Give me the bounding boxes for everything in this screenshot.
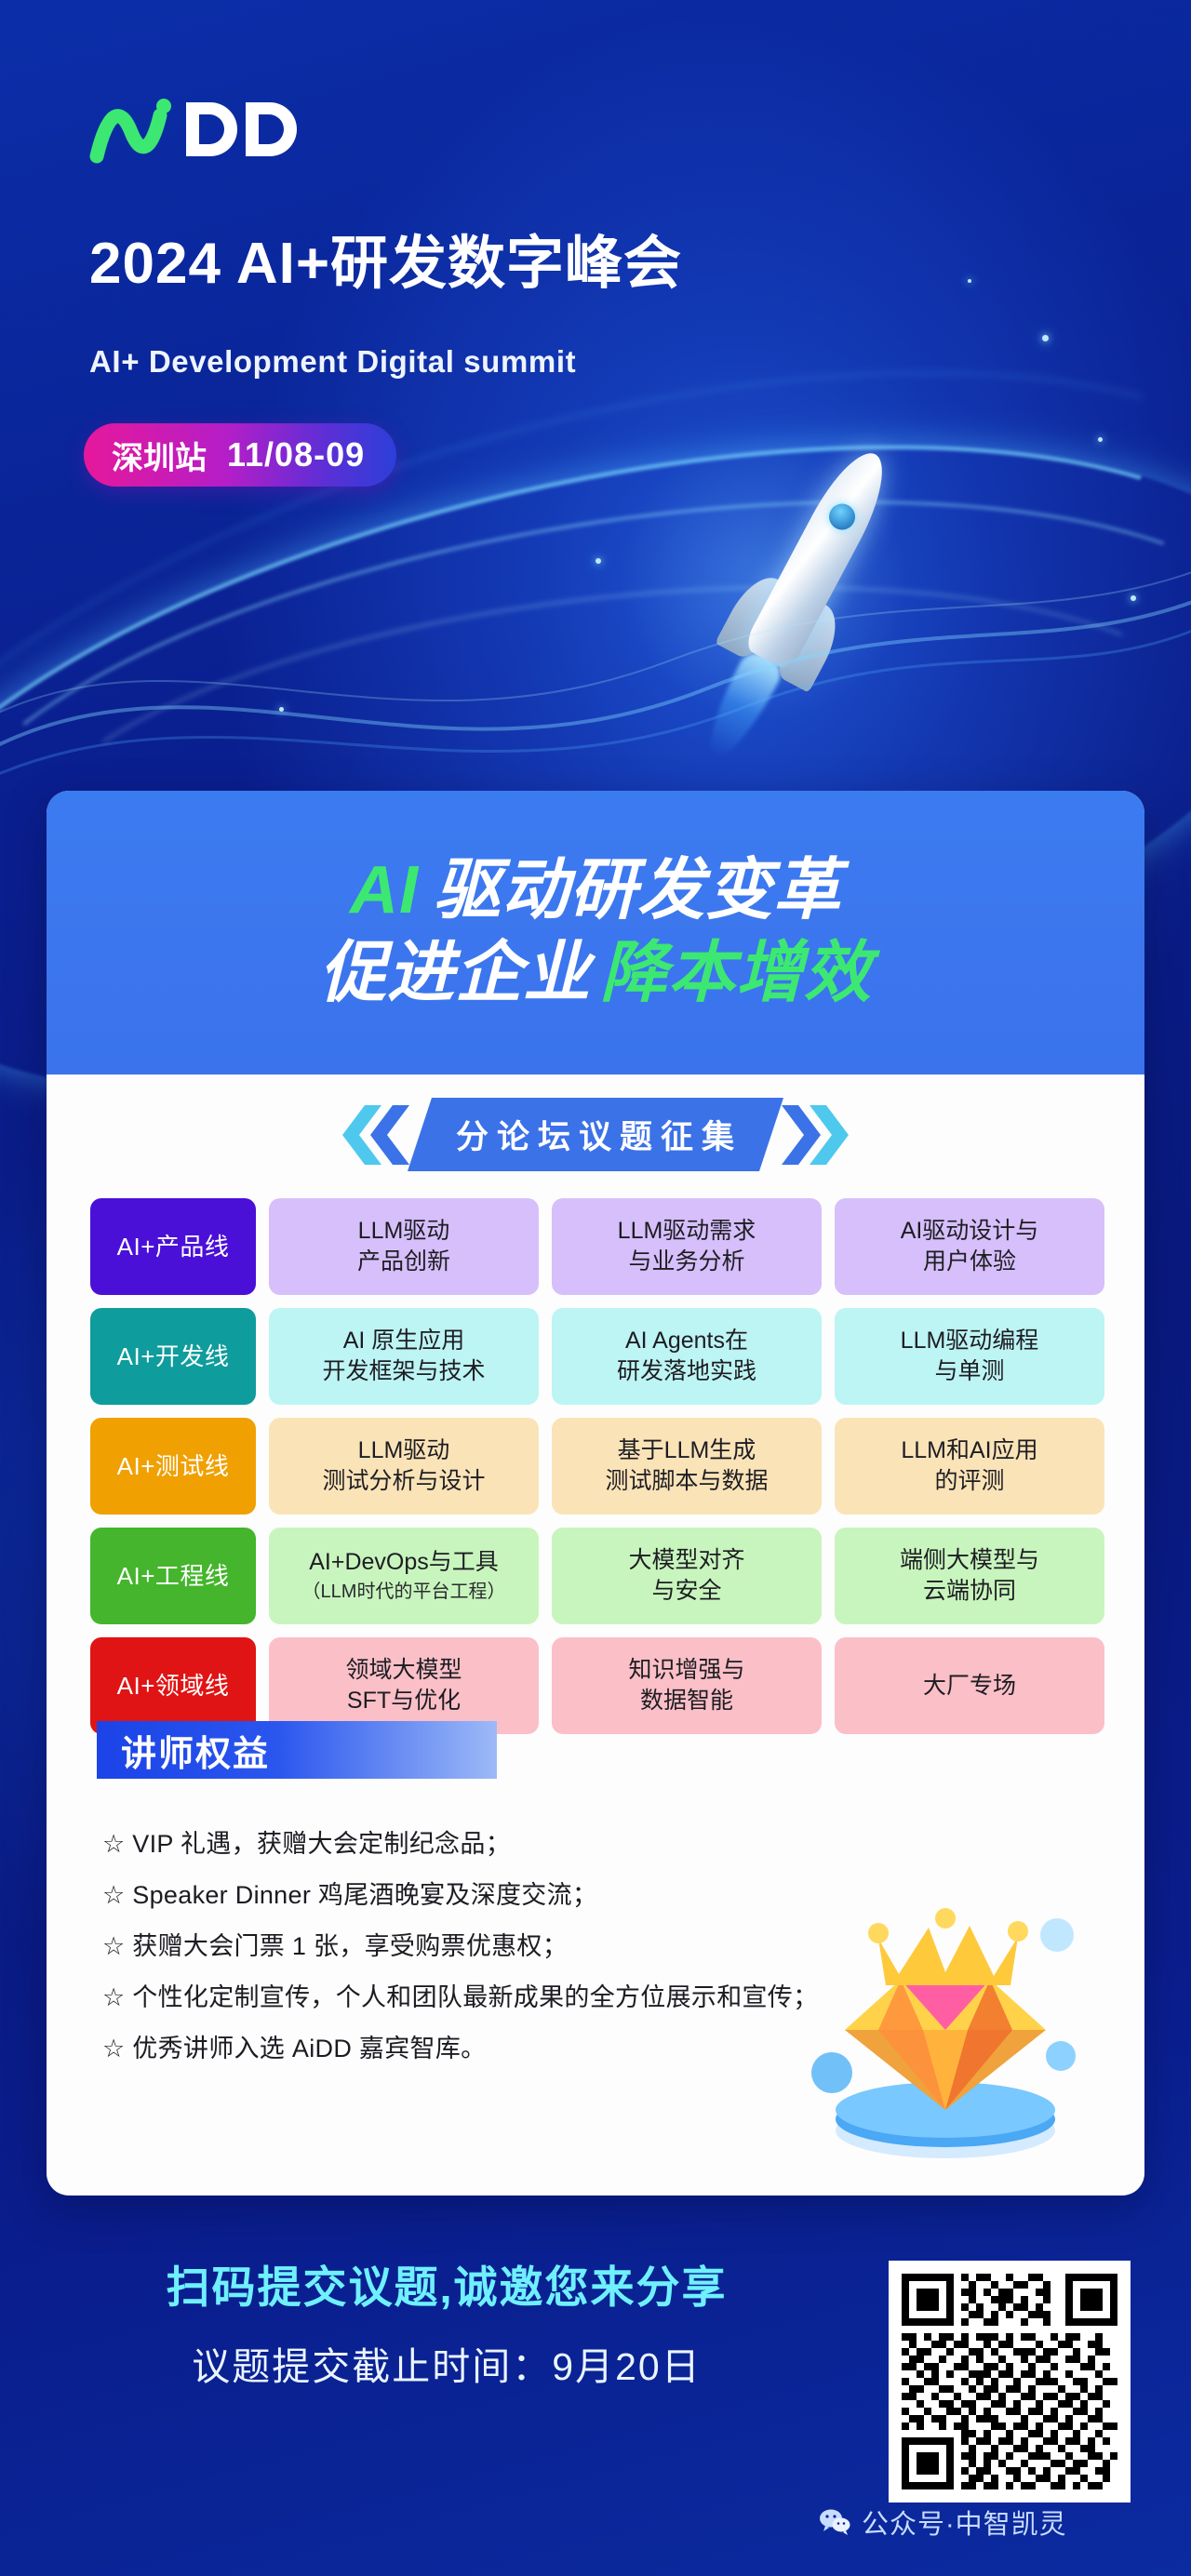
topic-cell-line2: 与单测	[934, 1356, 1004, 1387]
spark-dot	[1042, 335, 1049, 341]
badge-city: 深圳站	[112, 433, 207, 478]
page-title: 2024 AI+研发数字峰会	[89, 235, 682, 293]
spark-dot	[1098, 437, 1103, 442]
benefit-item: ☆ VIP 礼遇，获赠大会定制纪念品；	[102, 1823, 1089, 1860]
topic-cell-line2: 数据智能	[640, 1686, 733, 1716]
track-label-cell: AI+领域线	[90, 1637, 256, 1734]
topic-cell: 大模型对齐与安全	[552, 1528, 822, 1624]
topic-cell-line2: 用户体验	[923, 1247, 1016, 1277]
spark-dot	[595, 558, 601, 564]
spark-dot	[279, 707, 284, 712]
subtitle-main: Development Digital summit	[149, 344, 576, 379]
topic-cell-line1: LLM驱动	[358, 1216, 450, 1247]
rocket-icon	[679, 427, 930, 754]
footer-deadline: 议题提交截止时间：9月20日	[0, 2335, 893, 2391]
hero-line-2-text: 促进企业	[319, 936, 591, 1010]
topic-cell: 基于LLM生成测试脚本与数据	[552, 1418, 822, 1515]
spark-dot	[968, 279, 971, 283]
badge-date: 11/08-09	[227, 435, 365, 474]
benefit-item: ☆ 个性化定制宣传，个人和团队最新成果的全方位展示和宣传；	[102, 1977, 1089, 2013]
topic-cell-line2: 开发框架与技术	[322, 1356, 485, 1387]
track-label-cell: AI+开发线	[90, 1308, 256, 1405]
topic-cell: AI+DevOps与工具（LLM时代的平台工程）	[269, 1528, 539, 1624]
topic-cell-line1: 领域大模型	[345, 1655, 462, 1686]
topic-cell-line1: 基于LLM生成	[618, 1435, 756, 1466]
table-row: AI+产品线LLM驱动产品创新LLM驱动需求与业务分析AI驱动设计与用户体验	[90, 1198, 1104, 1295]
benefits-list: ☆ VIP 礼遇，获赠大会定制纪念品；☆ Speaker Dinner 鸡尾酒晚…	[102, 1823, 1089, 2064]
topic-cell-line1: AI Agents在	[625, 1326, 748, 1356]
track-label-cell: AI+产品线	[90, 1198, 256, 1295]
topic-cell-line2: 测试脚本与数据	[605, 1466, 768, 1497]
hero-accent-highlight: 降本增效	[600, 936, 872, 1010]
topic-cell-line1: 大厂专场	[923, 1671, 1016, 1702]
topic-cell: LLM驱动编程与单测	[835, 1308, 1104, 1405]
topic-cell: 大厂专场	[835, 1637, 1104, 1734]
topic-cell-line1: 大模型对齐	[628, 1545, 744, 1576]
topic-cell: AI驱动设计与用户体验	[835, 1198, 1104, 1295]
benefit-item: ☆ 优秀讲师入选 AiDD 嘉宾智库。	[102, 2028, 1089, 2064]
topic-cell-line2: 研发落地实践	[617, 1356, 756, 1387]
section-title-label: 分论坛议题征集	[408, 1098, 783, 1171]
benefits-title-bar: 讲师权益	[97, 1721, 497, 1779]
main-card: AI驱动研发变革 促进企业降本增效 分论坛议题征集 AI+产品线LLM驱	[47, 791, 1144, 2196]
topic-cell: LLM驱动需求与业务分析	[552, 1198, 822, 1295]
topic-cell-line1: AI+DevOps与工具	[309, 1547, 499, 1578]
table-row: AI+领域线领域大模型SFT与优化知识增强与数据智能大厂专场	[90, 1637, 1104, 1734]
topic-cell-line2: 测试分析与设计	[322, 1466, 485, 1497]
topic-cell-line2: 的评测	[934, 1466, 1004, 1497]
topic-cell-note: （LLM时代的平台工程）	[302, 1580, 506, 1604]
hero-line-1-text: 驱动研发变革	[434, 853, 841, 928]
aidd-logo	[89, 97, 322, 164]
topic-cell-line2: 与业务分析	[628, 1247, 744, 1277]
track-label-cell: AI+工程线	[90, 1528, 256, 1624]
page-subtitle-en: AI+ Development Digital summit	[89, 344, 576, 380]
light-halo	[521, 335, 1005, 819]
subtitle-prefix: AI+	[89, 344, 149, 379]
topic-cell-line1: 端侧大模型与	[900, 1545, 1039, 1576]
topic-cell-line1: AI驱动设计与	[901, 1216, 1039, 1247]
track-label-cell: AI+测试线	[90, 1418, 256, 1515]
city-date-badge: 深圳站 11/08-09	[84, 423, 396, 487]
qr-code[interactable]	[889, 2261, 1131, 2503]
benefit-item: ☆ 获赠大会门票 1 张，享受购票优惠权；	[102, 1926, 1089, 1962]
topic-cell: 知识增强与数据智能	[552, 1637, 822, 1734]
topic-cell: LLM和AI应用的评测	[835, 1418, 1104, 1515]
hero-banner: AI驱动研发变革 促进企业降本增效	[47, 791, 1144, 1074]
hero-line-1: AI驱动研发变革	[350, 854, 841, 928]
table-row: AI+工程线AI+DevOps与工具（LLM时代的平台工程）大模型对齐与安全端侧…	[90, 1528, 1104, 1624]
topic-cell-line1: LLM驱动	[358, 1435, 450, 1466]
topic-table: AI+产品线LLM驱动产品创新LLM驱动需求与业务分析AI驱动设计与用户体验AI…	[90, 1198, 1104, 1734]
topic-cell-line1: AI 原生应用	[343, 1326, 465, 1356]
decor-wave	[0, 521, 1191, 800]
hero-accent-ai: AI	[350, 853, 419, 928]
benefit-item: ☆ Speaker Dinner 鸡尾酒晚宴及深度交流；	[102, 1875, 1089, 1911]
topic-cell-line1: 知识增强与	[628, 1655, 744, 1686]
poster-root: 2024 AI+研发数字峰会 AI+ Development Digital s…	[0, 0, 1191, 2576]
chevron-right-icon	[782, 1105, 858, 1165]
hero-line-2: 促进企业降本增效	[319, 935, 872, 1012]
benefits-title: 讲师权益	[121, 1725, 270, 1776]
topic-cell: AI 原生应用开发框架与技术	[269, 1308, 539, 1405]
topic-cell: LLM驱动产品创新	[269, 1198, 539, 1295]
spark-dot	[1131, 595, 1136, 601]
topic-cell-line2: 与安全	[651, 1576, 721, 1607]
topic-cell-line2: 云端协同	[923, 1576, 1016, 1607]
topic-cell: 端侧大模型与云端协同	[835, 1528, 1104, 1624]
wechat-icon	[819, 2508, 850, 2536]
wechat-account: 公众号·中智凯灵	[819, 2503, 1154, 2542]
table-row: AI+开发线AI 原生应用开发框架与技术AI Agents在研发落地实践LLM驱…	[90, 1308, 1104, 1405]
section-title: 分论坛议题征集	[47, 1098, 1144, 1171]
table-row: AI+测试线LLM驱动测试分析与设计基于LLM生成测试脚本与数据LLM和AI应用…	[90, 1418, 1104, 1515]
topic-cell-line2: SFT与优化	[347, 1686, 461, 1716]
topic-cell: 领域大模型SFT与优化	[269, 1637, 539, 1734]
chevron-left-icon	[333, 1105, 409, 1165]
topic-cell: AI Agents在研发落地实践	[552, 1308, 822, 1405]
topic-cell-line1: LLM驱动编程	[901, 1326, 1039, 1356]
qr-code-image	[902, 2274, 1117, 2489]
footer-cta: 扫码提交议题,诚邀您来分享	[0, 2251, 893, 2316]
wechat-label: 公众号·中智凯灵	[862, 2503, 1067, 2542]
topic-cell: LLM驱动测试分析与设计	[269, 1418, 539, 1515]
topic-cell-line2: 产品创新	[357, 1247, 450, 1277]
topic-cell-line1: LLM驱动需求	[618, 1216, 756, 1247]
topic-cell-line1: LLM和AI应用	[901, 1435, 1037, 1466]
